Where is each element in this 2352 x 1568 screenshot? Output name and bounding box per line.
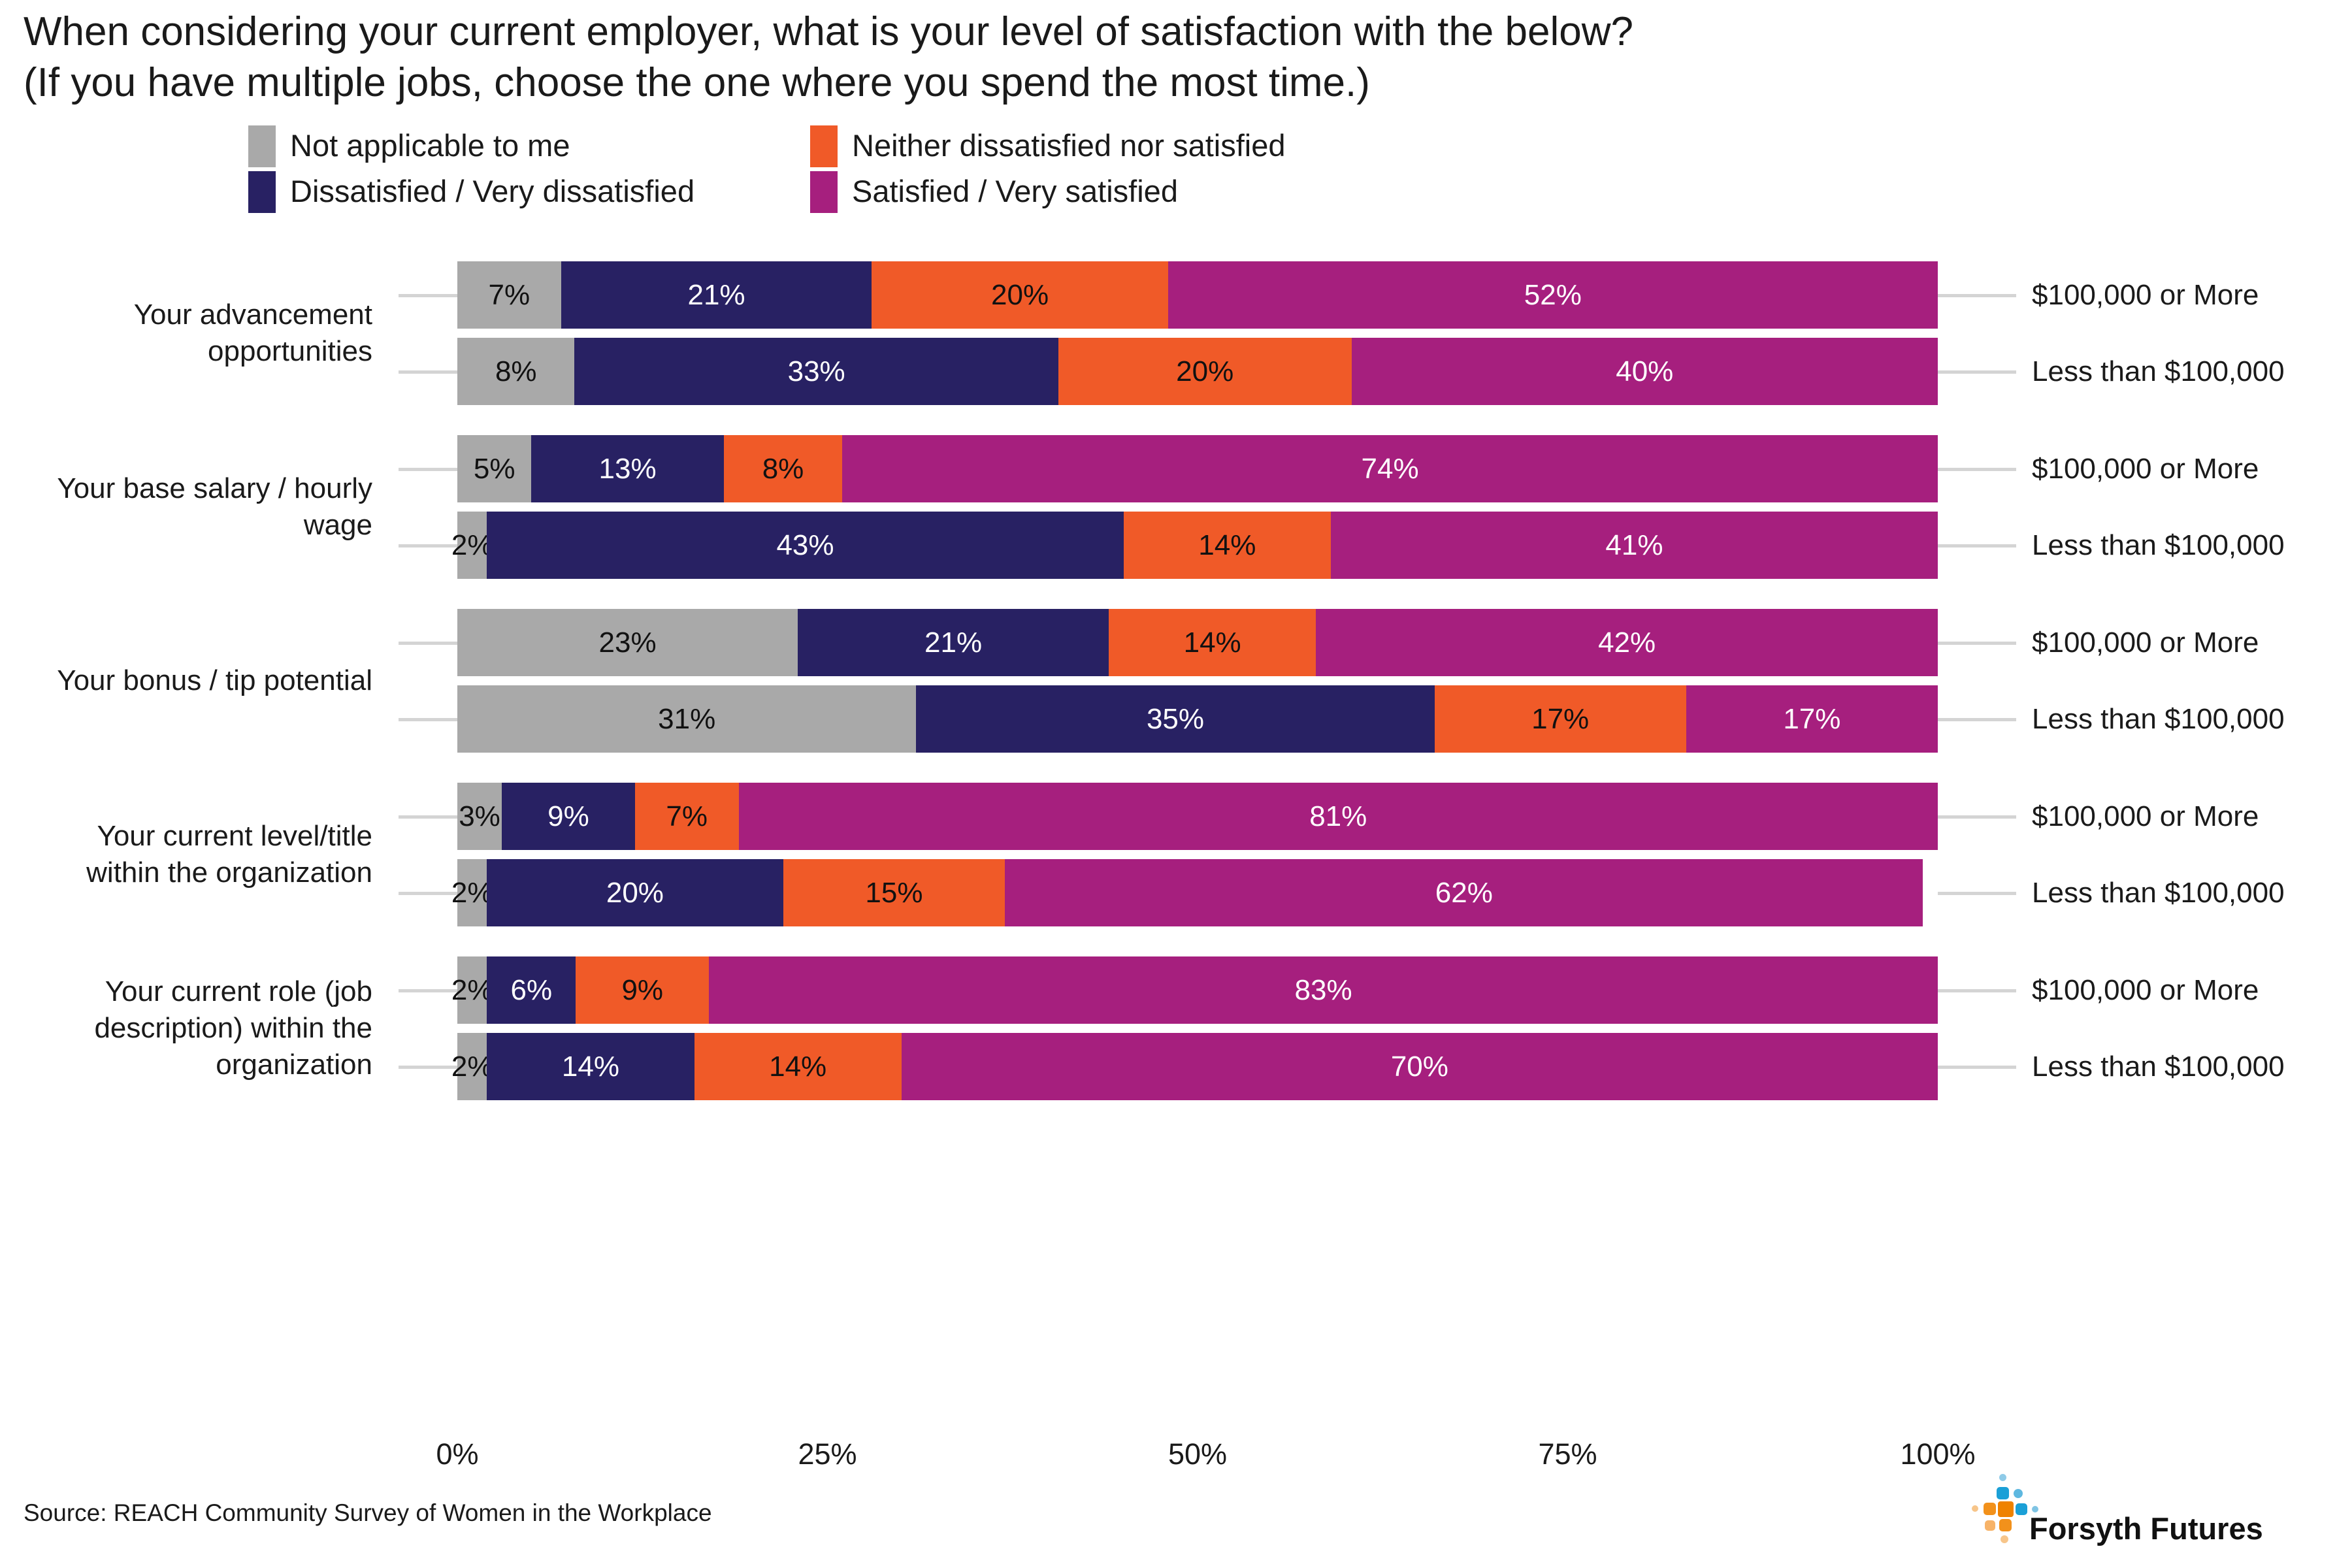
bar-segment[interactable]: 20%: [1058, 338, 1352, 405]
category-label: Your advancement opportunities: [20, 297, 372, 370]
bar-segment-value-label: 70%: [1391, 1051, 1448, 1083]
bar-segment[interactable]: 14%: [1109, 609, 1316, 676]
axis-tick-connector-right: [1938, 370, 2016, 374]
bar-segment-value-label: 20%: [1176, 355, 1233, 388]
bar-segment-value-label: 35%: [1147, 703, 1204, 736]
stacked-bar-row[interactable]: 31%35%17%17%: [457, 685, 1938, 753]
bar-segment-value-label: 14%: [1198, 529, 1256, 562]
bar-segment[interactable]: 7%: [635, 783, 739, 850]
bar-row-label: Less than $100,000: [2032, 877, 2285, 909]
bar-segment[interactable]: 70%: [902, 1033, 1938, 1100]
axis-tick-connector-left: [399, 370, 457, 374]
bar-row-label: $100,000 or More: [2032, 974, 2259, 1007]
brand-name: Forsyth Futures: [2029, 1511, 2263, 1546]
axis-tick-connector-right: [1938, 294, 2016, 297]
bar-segment[interactable]: 14%: [487, 1033, 694, 1100]
axis-tick-connector-left: [399, 815, 457, 819]
bar-segment-value-label: 62%: [1435, 877, 1493, 909]
bar-segment[interactable]: 7%: [457, 261, 561, 329]
axis-tick-connector-left: [399, 989, 457, 992]
stacked-bar-row[interactable]: 8%33%20%40%: [457, 338, 1938, 405]
bar-segment-value-label: 21%: [687, 279, 745, 312]
bar-segment-value-label: 83%: [1295, 974, 1352, 1007]
category-label: Your current level/title within the orga…: [20, 818, 372, 891]
bar-segment-value-label: 43%: [776, 529, 834, 562]
bar-segment[interactable]: 21%: [798, 609, 1109, 676]
bar-segment[interactable]: 83%: [709, 956, 1938, 1024]
axis-tick-connector-right: [1938, 718, 2016, 721]
bar-segment-value-label: 74%: [1362, 453, 1419, 485]
bar-segment-value-label: 14%: [1184, 627, 1241, 659]
axis-tick-connector-right: [1938, 468, 2016, 471]
bar-segment[interactable]: 2%: [457, 1033, 487, 1100]
bar-segment[interactable]: 8%: [724, 435, 842, 502]
bar-segment[interactable]: 20%: [872, 261, 1168, 329]
bar-segment[interactable]: 40%: [1352, 338, 1938, 405]
axis-tick-connector-left: [399, 468, 457, 471]
bar-segment-value-label: 3%: [459, 800, 500, 833]
stacked-bar-row[interactable]: 3%9%7%81%: [457, 783, 1938, 850]
axis-tick-connector-right: [1938, 544, 2016, 547]
bar-segment-value-label: 17%: [1783, 703, 1840, 736]
bar-segment[interactable]: 9%: [502, 783, 635, 850]
axis-tick-connector-right: [1938, 989, 2016, 992]
bar-segment[interactable]: 17%: [1686, 685, 1938, 753]
bar-segment-value-label: 15%: [865, 877, 923, 909]
bar-segment-value-label: 20%: [991, 279, 1049, 312]
bar-segment-value-label: 6%: [510, 974, 552, 1007]
bar-segment-value-label: 8%: [762, 453, 804, 485]
bar-segment[interactable]: 41%: [1331, 512, 1938, 579]
bar-segment[interactable]: 52%: [1168, 261, 1938, 329]
axis-tick-connector-left: [399, 1066, 457, 1069]
bar-segment[interactable]: 5%: [457, 435, 531, 502]
bar-segment-value-label: 40%: [1616, 355, 1673, 388]
stacked-bar-row[interactable]: 2%43%14%41%: [457, 512, 1938, 579]
bar-segment-value-label: 17%: [1531, 703, 1589, 736]
stacked-bar-row[interactable]: 2%6%9%83%: [457, 956, 1938, 1024]
bar-segment-value-label: 52%: [1524, 279, 1582, 312]
axis-tick-connector-left: [399, 544, 457, 547]
bar-segment[interactable]: 2%: [457, 956, 487, 1024]
bar-segment[interactable]: 17%: [1435, 685, 1686, 753]
bar-segment[interactable]: 15%: [783, 859, 1005, 926]
bar-segment[interactable]: 81%: [739, 783, 1938, 850]
x-axis-tick-label: 50%: [1168, 1437, 1227, 1471]
bar-segment[interactable]: 31%: [457, 685, 916, 753]
category-label: Your current role (job description) with…: [20, 973, 372, 1083]
bar-segment[interactable]: 23%: [457, 609, 798, 676]
stacked-bar-row[interactable]: 2%14%14%70%: [457, 1033, 1938, 1100]
x-axis-tick-label: 0%: [436, 1437, 478, 1471]
bar-row-label: Less than $100,000: [2032, 1051, 2285, 1083]
stacked-bar-row[interactable]: 5%13%8%74%: [457, 435, 1938, 502]
bar-segment-value-label: 5%: [474, 453, 515, 485]
axis-tick-connector-right: [1938, 815, 2016, 819]
x-axis-tick-label: 75%: [1538, 1437, 1597, 1471]
axis-tick-connector-left: [399, 718, 457, 721]
axis-tick-connector-left: [399, 892, 457, 895]
bar-segment-value-label: 42%: [1598, 627, 1656, 659]
x-axis-tick-label: 25%: [798, 1437, 857, 1471]
bar-segment-value-label: 21%: [924, 627, 982, 659]
bar-row-label: $100,000 or More: [2032, 453, 2259, 485]
stacked-bar-chart: 7%21%20%52%$100,000 or More8%33%20%40%Le…: [0, 0, 2352, 1568]
bar-segment[interactable]: 8%: [457, 338, 574, 405]
bar-segment-value-label: 9%: [547, 800, 589, 833]
bar-segment[interactable]: 14%: [694, 1033, 902, 1100]
bar-row-label: $100,000 or More: [2032, 800, 2259, 833]
axis-tick-connector-right: [1938, 1066, 2016, 1069]
bar-segment[interactable]: 42%: [1316, 609, 1938, 676]
bar-row-label: Less than $100,000: [2032, 703, 2285, 736]
bar-segment[interactable]: 3%: [457, 783, 502, 850]
bar-segment[interactable]: 13%: [531, 435, 724, 502]
axis-tick-connector-left: [399, 294, 457, 297]
bar-segment[interactable]: 2%: [457, 512, 487, 579]
bar-row-label: Less than $100,000: [2032, 529, 2285, 562]
bar-segment-value-label: 7%: [666, 800, 708, 833]
source-note: Source: REACH Community Survey of Women …: [24, 1499, 712, 1527]
bar-segment[interactable]: 43%: [487, 512, 1123, 579]
bar-segment-value-label: 13%: [599, 453, 657, 485]
axis-tick-connector-right: [1938, 642, 2016, 645]
x-axis-tick-label: 100%: [1900, 1437, 1975, 1471]
bar-row-label: $100,000 or More: [2032, 279, 2259, 312]
bar-segment[interactable]: 9%: [576, 956, 709, 1024]
stacked-bar-row[interactable]: 2%20%15%62%: [457, 859, 1938, 926]
bar-segment-value-label: 41%: [1605, 529, 1663, 562]
bar-segment-value-label: 33%: [788, 355, 845, 388]
bar-segment[interactable]: 35%: [916, 685, 1434, 753]
bar-row-label: $100,000 or More: [2032, 627, 2259, 659]
brand-logo: Forsyth Futures: [1967, 1470, 2332, 1558]
category-label: Your bonus / tip potential: [20, 662, 372, 699]
stacked-bar-row[interactable]: 23%21%14%42%: [457, 609, 1938, 676]
bar-segment[interactable]: 2%: [457, 859, 487, 926]
bar-segment-value-label: 9%: [621, 974, 663, 1007]
bar-segment-value-label: 31%: [658, 703, 715, 736]
bar-segment-value-label: 81%: [1309, 800, 1367, 833]
category-label: Your base salary / hourly wage: [20, 470, 372, 544]
stacked-bar-row[interactable]: 7%21%20%52%: [457, 261, 1938, 329]
bar-segment-value-label: 14%: [769, 1051, 826, 1083]
bar-segment[interactable]: 20%: [487, 859, 783, 926]
bar-row-label: Less than $100,000: [2032, 355, 2285, 388]
bar-segment[interactable]: 21%: [561, 261, 872, 329]
axis-tick-connector-right: [1938, 892, 2016, 895]
bar-segment[interactable]: 14%: [1124, 512, 1331, 579]
bar-segment-value-label: 23%: [599, 627, 657, 659]
bar-segment-value-label: 8%: [495, 355, 537, 388]
bar-segment-value-label: 20%: [606, 877, 664, 909]
bar-segment[interactable]: 6%: [487, 956, 576, 1024]
bar-segment[interactable]: 33%: [574, 338, 1058, 405]
bar-segment[interactable]: 74%: [842, 435, 1938, 502]
bar-segment[interactable]: 62%: [1005, 859, 1923, 926]
axis-tick-connector-left: [399, 642, 457, 645]
bar-segment-value-label: 14%: [562, 1051, 619, 1083]
bar-segment-value-label: 7%: [489, 279, 531, 312]
